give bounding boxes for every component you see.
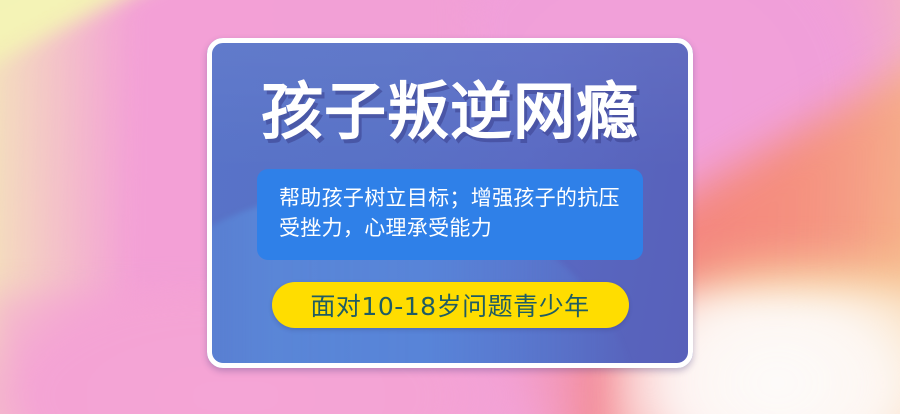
card-frame: 孩子叛逆网瘾 帮助孩子树立目标；增强孩子的抗压受挫力，心理承受能力 面对10-1… [207, 38, 693, 368]
audience-pill[interactable]: 面对10-18岁问题青少年 [272, 282, 629, 328]
content-card: 孩子叛逆网瘾 帮助孩子树立目标；增强孩子的抗压受挫力，心理承受能力 面对10-1… [207, 38, 693, 368]
page-title: 孩子叛逆网瘾 [261, 81, 639, 143]
subtitle-text: 帮助孩子树立目标；增强孩子的抗压受挫力，心理承受能力 [279, 186, 620, 240]
subtitle-panel: 帮助孩子树立目标；增强孩子的抗压受挫力，心理承受能力 [257, 169, 643, 260]
card-content: 孩子叛逆网瘾 帮助孩子树立目标；增强孩子的抗压受挫力，心理承受能力 面对10-1… [212, 43, 688, 363]
audience-pill-label: 面对10-18岁问题青少年 [310, 287, 589, 323]
promo-banner: 孩子叛逆网瘾 帮助孩子树立目标；增强孩子的抗压受挫力，心理承受能力 面对10-1… [0, 0, 900, 414]
